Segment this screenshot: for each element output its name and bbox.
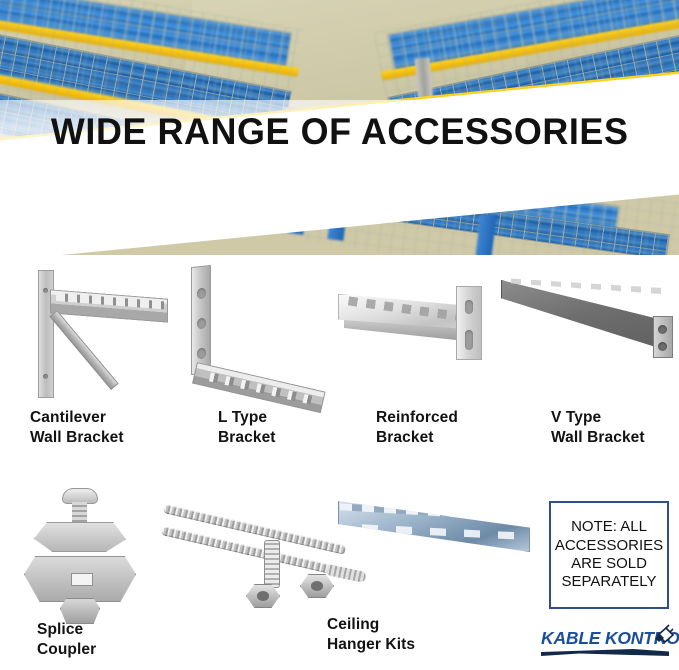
- product-l-type-bracket[interactable]: L Type Bracket: [175, 258, 335, 463]
- coupling-sleeve: [264, 540, 280, 588]
- vertical-leg: [191, 265, 211, 375]
- product-label: Cantilever Wall Bracket: [30, 408, 124, 449]
- horizontal-leg: [192, 362, 326, 413]
- diagonal-brace: [49, 310, 118, 390]
- product-row-top: Cantilever Wall Bracket L Type Bracket: [0, 258, 679, 463]
- page-title: WIDE RANGE OF ACCESSORIES: [51, 111, 629, 153]
- product-splice-coupler[interactable]: Splice Coupler: [10, 470, 160, 670]
- reinforced-bracket-image: [330, 280, 495, 402]
- accessories-infographic: WIDE RANGE OF ACCESSORIES Cantilever Wal…: [0, 0, 679, 670]
- ceiling-hanger-channel-image: [332, 476, 542, 606]
- galvanized-strut: [338, 494, 530, 552]
- product-label: L Type Bracket: [218, 408, 276, 449]
- upper-clamp-plate: [34, 522, 126, 552]
- product-label: Splice Coupler: [37, 620, 96, 661]
- mounting-plate: [456, 286, 482, 360]
- product-ceiling-hanger-kits[interactable]: Ceiling Hanger Kits: [160, 470, 540, 670]
- splice-coupler-image: [10, 486, 150, 628]
- end-mounting-plate: [653, 316, 673, 358]
- note-text: NOTE: ALL ACCESSORIES ARE SOLD SEPARATEL…: [555, 518, 663, 591]
- v-type-wall-bracket-image: [495, 272, 679, 402]
- product-reinforced-bracket[interactable]: Reinforced Bracket: [330, 258, 495, 463]
- horizontal-arm: [50, 289, 168, 322]
- logo-swoosh: [541, 649, 669, 656]
- title-band: WIDE RANGE OF ACCESSORIES: [0, 100, 679, 164]
- product-label: Ceiling Hanger Kits: [327, 615, 415, 656]
- note-box: NOTE: ALL ACCESSORIES ARE SOLD SEPARATEL…: [549, 501, 669, 609]
- product-label: V Type Wall Bracket: [551, 408, 645, 449]
- threaded-pin: [325, 564, 366, 583]
- lower-clamp-plate: [24, 556, 136, 602]
- hero-banner: WIDE RANGE OF ACCESSORIES: [0, 0, 679, 255]
- product-cantilever-wall-bracket[interactable]: Cantilever Wall Bracket: [10, 258, 170, 463]
- cantilever-bracket-image: [10, 258, 170, 403]
- brand-logo[interactable]: KABLE KONTROL: [541, 624, 674, 658]
- hex-nut-right: [300, 574, 334, 598]
- ceiling-hanger-kits-image: [160, 478, 360, 613]
- product-label: Reinforced Bracket: [376, 408, 458, 449]
- power-plug-icon: [652, 624, 676, 648]
- l-type-bracket-image: [175, 258, 340, 403]
- product-v-type-wall-bracket[interactable]: V Type Wall Bracket: [495, 258, 679, 463]
